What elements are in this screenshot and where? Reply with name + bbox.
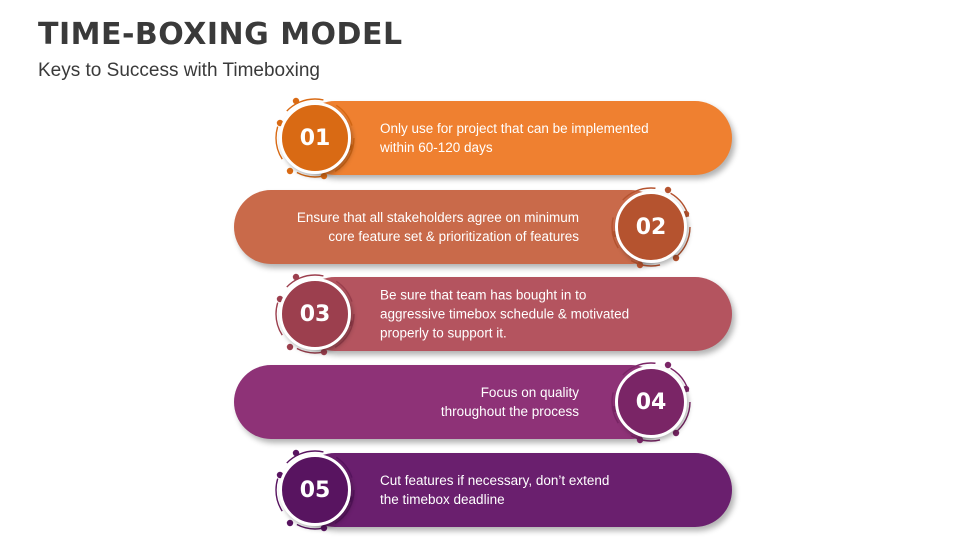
step-text-line: core feature set & prioritization of fea…: [264, 227, 579, 246]
step-number-01: 01: [300, 126, 331, 151]
step-text-line: Focus on quality: [264, 383, 579, 402]
step-text-line: the timebox deadline: [380, 490, 690, 509]
step-text-02: Ensure that all stakeholders agree on mi…: [264, 208, 579, 246]
step-badge-01[interactable]: 01: [279, 102, 351, 174]
step-text-line: Ensure that all stakeholders agree on mi…: [264, 208, 579, 227]
step-number-05: 05: [300, 478, 331, 503]
step-badge-04[interactable]: 04: [615, 366, 687, 438]
step-row-04: Focus on quality throughout the process …: [234, 365, 694, 439]
step-badge-02[interactable]: 02: [615, 191, 687, 263]
step-text-05: Cut features if necessary, don’t extend …: [380, 471, 690, 509]
step-number-03: 03: [300, 302, 331, 327]
step-text-line: within 60-120 days: [380, 138, 690, 157]
slide-canvas: TIME-BOXING MODEL Keys to Success with T…: [0, 0, 960, 540]
step-text-03: Be sure that team has bought in to aggre…: [380, 286, 690, 343]
step-number-04: 04: [636, 390, 667, 415]
step-text-line: throughout the process: [264, 402, 579, 421]
step-badge-wrap-05: 05: [272, 447, 358, 533]
step-row-03: Be sure that team has bought in to aggre…: [272, 277, 732, 351]
step-text-04: Focus on quality throughout the process: [264, 383, 579, 421]
step-badge-03[interactable]: 03: [279, 278, 351, 350]
step-badge-wrap-02: 02: [608, 184, 694, 270]
page-subtitle: Keys to Success with Timeboxing: [38, 60, 320, 82]
page-title: TIME-BOXING MODEL: [38, 17, 403, 52]
step-badge-wrap-04: 04: [608, 359, 694, 445]
step-text-line: properly to support it.: [380, 324, 690, 343]
step-text-line: Cut features if necessary, don’t extend: [380, 471, 690, 490]
step-row-02: Ensure that all stakeholders agree on mi…: [234, 190, 694, 264]
step-badge-wrap-01: 01: [272, 95, 358, 181]
step-number-02: 02: [636, 215, 667, 240]
step-text-line: aggressive timebox schedule & motivated: [380, 305, 690, 324]
step-text-01: Only use for project that can be impleme…: [380, 119, 690, 157]
step-text-line: Only use for project that can be impleme…: [380, 119, 690, 138]
step-badge-05[interactable]: 05: [279, 454, 351, 526]
step-badge-wrap-03: 03: [272, 271, 358, 357]
step-row-05: Cut features if necessary, don’t extend …: [272, 453, 732, 527]
step-text-line: Be sure that team has bought in to: [380, 286, 690, 305]
step-row-01: Only use for project that can be impleme…: [272, 101, 732, 175]
